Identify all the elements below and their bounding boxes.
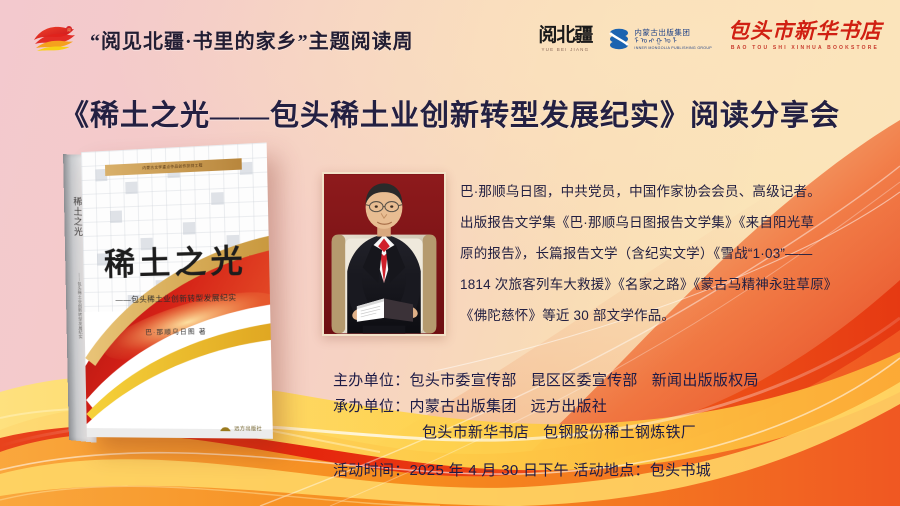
event-time-value: 2025 年 4 月 30 日下午 bbox=[410, 462, 569, 479]
publishing-group-mongolian: ᠮ ᠣ ᠩ ᠭ ᠣ ᠯ bbox=[634, 37, 712, 46]
book-front-cover: 内蒙古文学重点作品创作扶持工程 bbox=[81, 142, 273, 438]
book-spine-subtitle: ——包头稀土业创新转型发展纪实 bbox=[76, 273, 83, 340]
organizer-item: 远方出版社 bbox=[531, 398, 608, 415]
publishing-group-en: INNER MONGOLIA PUBLISHING GROUP bbox=[634, 46, 712, 50]
header-left-group: 阅 “阅见北疆·书里的家乡”主题阅读周 bbox=[32, 24, 414, 54]
bio-line: 原的报告》，长篇报告文学（含纪实文学）《雪战“1·03”—— bbox=[460, 238, 892, 269]
event-time-row: 活动时间：2025 年 4 月 30 日下午 bbox=[333, 462, 573, 479]
publishing-group-mark-icon bbox=[608, 27, 630, 51]
svg-text:阅: 阅 bbox=[67, 27, 70, 32]
poster-header: 阅 “阅见北疆·书里的家乡”主题阅读周 阅北疆 YUE BEI JIANG 内蒙… bbox=[0, 0, 900, 78]
bio-line: 1814 次旅客列车大救援》《名家之路》《蒙古马精神永驻草原》 bbox=[460, 269, 892, 300]
bio-line: 《佛陀慈怀》等近 30 部文学作品。 bbox=[460, 300, 892, 331]
author-bio: 巴·那顺乌日图，中共党员，中国作家协会会员、高级记者。 出版报告文学集《巴·那顺… bbox=[460, 176, 892, 331]
organizer-row-2: 包头市新华书店包钢股份稀土钢炼铁厂 bbox=[333, 420, 893, 446]
publishing-group-zh: 内蒙古出版集团 bbox=[634, 28, 712, 37]
event-time-label: 活动时间： bbox=[333, 462, 410, 479]
event-meta-block: 活动时间：2025 年 4 月 30 日下午 活动地点：包头书城 bbox=[333, 458, 893, 484]
host-row: 主办单位：包头市委宣传部昆区区委宣传部新闻出版版权局 bbox=[333, 368, 893, 394]
theme-week-title: “阅见北疆·书里的家乡”主题阅读周 bbox=[90, 25, 414, 54]
host-label: 主办单位： bbox=[333, 372, 410, 389]
organiser-block: 主办单位：包头市委宣传部昆区区委宣传部新闻出版版权局 承办单位：内蒙古出版集团远… bbox=[333, 368, 893, 446]
publishing-group-text-block: 内蒙古出版集团 ᠮ ᠣ ᠩ ᠭ ᠣ ᠯ INNER MONGOLIA PUBLI… bbox=[634, 28, 712, 50]
organizer-item: 内蒙古出版集团 bbox=[410, 398, 517, 415]
poster-root: 阅 “阅见北疆·书里的家乡”主题阅读周 阅北疆 YUE BEI JIANG 内蒙… bbox=[0, 0, 900, 506]
host-item: 包头市委宣传部 bbox=[410, 372, 517, 389]
publisher-name: 远方出版社 bbox=[234, 425, 262, 432]
author-photo bbox=[322, 172, 446, 336]
host-item: 昆区区委宣传部 bbox=[531, 372, 638, 389]
event-place-row: 活动地点：包头书城 bbox=[573, 462, 711, 479]
book-cover-title: 稀土之光 bbox=[83, 234, 270, 285]
logo-yue-bei-jiang-text: 阅北疆 bbox=[538, 26, 592, 45]
event-place-label: 活动地点： bbox=[573, 462, 650, 479]
logo-inner-mongolia-publishing-group[interactable]: 内蒙古出版集团 ᠮ ᠣ ᠩ ᠭ ᠣ ᠯ INNER MONGOLIA PUBLI… bbox=[608, 21, 712, 57]
bio-line: 出版报告文学集《巴·那顺乌日图报告文学集》《来自阳光草 bbox=[460, 207, 892, 238]
author-portrait-illustration bbox=[324, 174, 444, 334]
organizer-label: 承办单位： bbox=[333, 398, 410, 415]
book-cover-publisher: 远方出版社 bbox=[221, 425, 263, 433]
logo-yue-bei-jiang-pinyin: YUE BEI JIANG bbox=[541, 47, 589, 52]
xinhua-bookstore-en: BAO TOU SHI XINHUA BOOKSTORE bbox=[731, 45, 879, 51]
main-title: 《稀土之光——包头稀土业创新转型发展纪实》阅读分享会 bbox=[0, 92, 900, 134]
logo-baotou-xinhua-bookstore[interactable]: 包头市新华书店 BAO TOU SHI XINHUA BOOKSTORE bbox=[728, 21, 882, 57]
host-item: 新闻出版版权局 bbox=[652, 372, 759, 389]
logo-yue-bei-jiang[interactable]: 阅北疆 YUE BEI JIANG bbox=[538, 21, 592, 57]
organizer-row-1: 承办单位：内蒙古出版集团远方出版社 bbox=[333, 394, 893, 420]
xinhua-bookstore-zh: 包头市新华书店 bbox=[728, 21, 882, 42]
red-flag-ribbon-icon: 阅 bbox=[32, 24, 80, 54]
header-logo-group: 阅北疆 YUE BEI JIANG 内蒙古出版集团 ᠮ ᠣ ᠩ ᠭ ᠣ ᠯ IN… bbox=[538, 21, 886, 57]
publisher-mark-icon bbox=[221, 425, 232, 432]
book-cover-mockup: 稀土之光 ——包头稀土业创新转型发展纪实 bbox=[62, 152, 292, 442]
organizer-item: 包头市新华书店 bbox=[422, 424, 529, 441]
bio-line: 巴·那顺乌日图，中共党员，中国作家协会会员、高级记者。 bbox=[460, 176, 892, 207]
organizer-item: 包钢股份稀土钢炼铁厂 bbox=[543, 424, 696, 441]
event-place-value: 包头书城 bbox=[650, 462, 711, 479]
